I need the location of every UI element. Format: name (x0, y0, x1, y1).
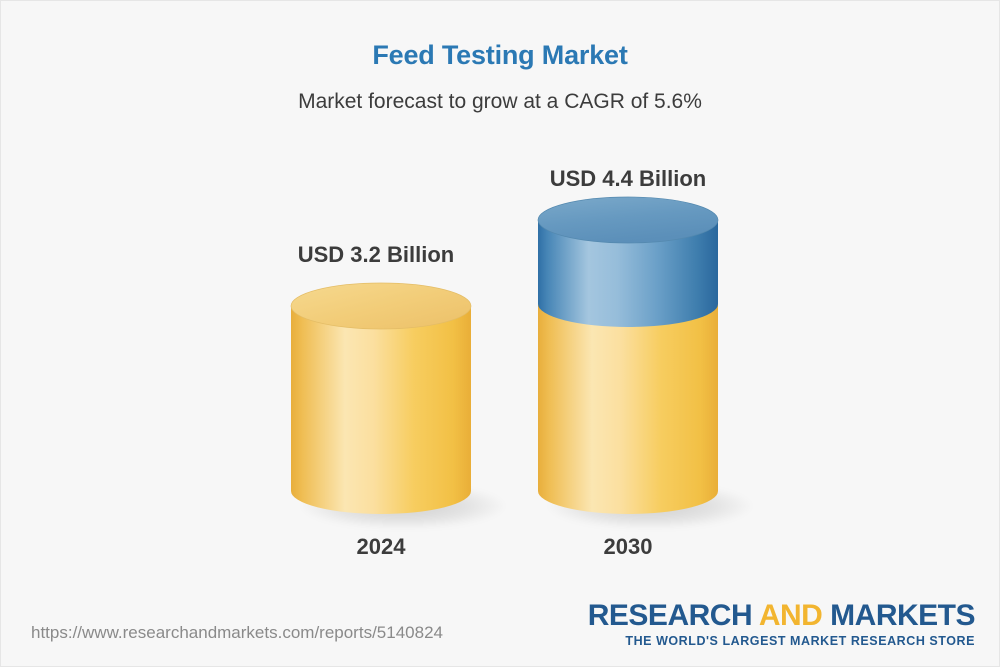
plot-area: USD 3.2 Billion 2024 (1, 1, 1000, 601)
logo-text-research: RESEARCH (588, 599, 759, 632)
category-label-2024: 2024 (281, 534, 481, 560)
value-label-2024: USD 3.2 Billion (276, 242, 476, 268)
logo-tagline: THE WORLD'S LARGEST MARKET RESEARCH STOR… (588, 635, 975, 648)
chart-canvas: Feed Testing Market Market forecast to g… (0, 0, 1000, 667)
logo-text-markets: MARKETS (822, 599, 975, 632)
bar-2024[interactable] (286, 273, 481, 528)
research-and-markets-logo[interactable]: RESEARCH AND MARKETS THE WORLD'S LARGEST… (588, 601, 975, 648)
value-label-2030: USD 4.4 Billion (528, 166, 728, 192)
logo-wordmark: RESEARCH AND MARKETS (588, 601, 975, 631)
logo-text-and: AND (759, 599, 823, 632)
report-url[interactable]: https://www.researchandmarkets.com/repor… (31, 623, 443, 643)
category-label-2030: 2030 (528, 534, 728, 560)
bar-2030[interactable] (533, 187, 728, 528)
